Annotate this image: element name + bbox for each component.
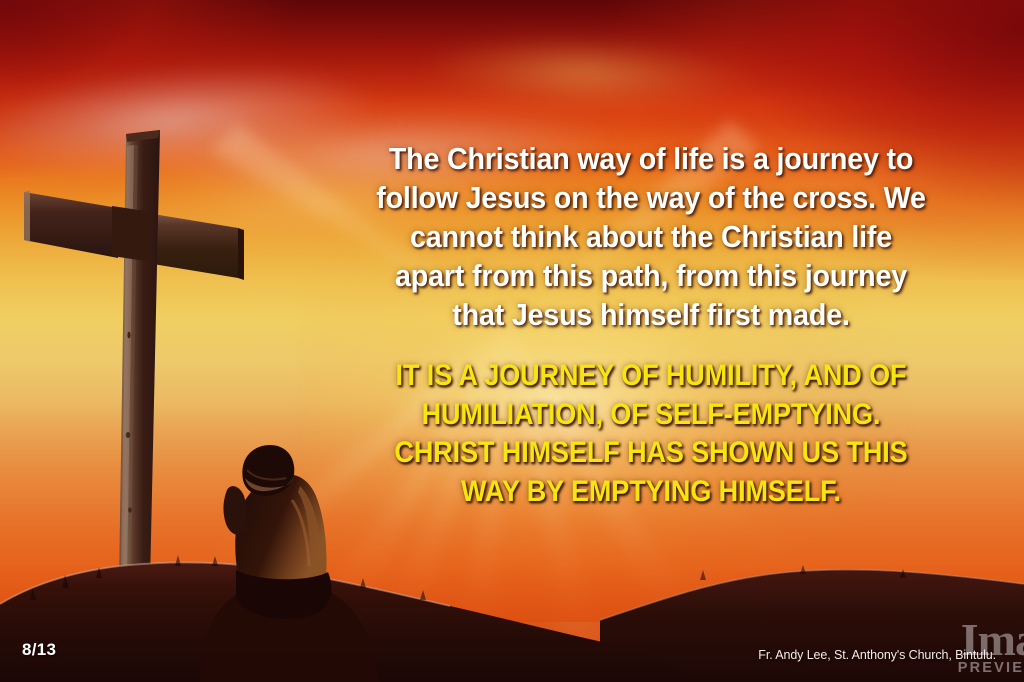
attribution-text: Fr. Andy Lee, St. Anthony's Church, Bint… xyxy=(758,648,996,662)
praying-figure xyxy=(223,445,331,619)
slide-canvas: The Christian way of life is a journey t… xyxy=(0,0,1024,682)
quote-block: The Christian way of life is a journey t… xyxy=(358,140,944,511)
quote-white-text: The Christian way of life is a journey t… xyxy=(376,140,927,335)
quote-yellow-text: It is a journey of humility, and of humi… xyxy=(387,335,914,511)
slide-counter: 8/13 xyxy=(22,640,56,660)
